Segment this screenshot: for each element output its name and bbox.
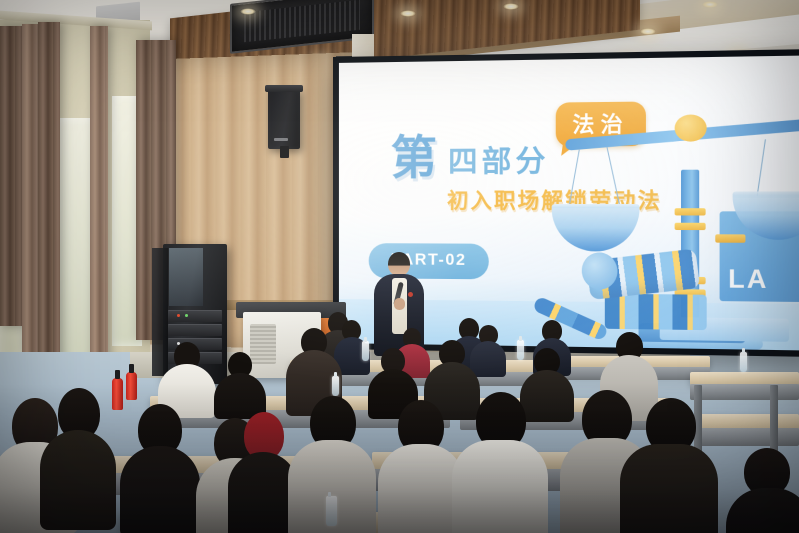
downlight xyxy=(240,8,256,15)
rack-led xyxy=(185,314,188,317)
curtain xyxy=(0,26,22,326)
scale-string xyxy=(606,147,621,210)
rack-glass-door xyxy=(169,248,203,306)
scale-pan-left xyxy=(552,208,640,252)
scale-string xyxy=(756,139,766,197)
lecture-hall-photo: 第 四部分 初入职场解锁劳动法 法治 PART-02 LA xyxy=(0,0,799,533)
slide-title: 第 四部分 xyxy=(391,135,550,180)
audience-member xyxy=(214,352,266,414)
downlight xyxy=(400,10,416,17)
audience-member xyxy=(452,392,548,533)
slide-title-prefix: 第 xyxy=(391,136,438,180)
curtain xyxy=(90,26,108,378)
speaker-bracket xyxy=(280,146,289,158)
presenter-lapel-pin xyxy=(408,292,413,297)
curtain xyxy=(22,24,38,354)
room-interior: 第 四部分 初入职场解锁劳动法 法治 PART-02 LA xyxy=(0,0,799,533)
law-book-clasp xyxy=(715,234,745,242)
speaker-badge xyxy=(274,138,288,141)
presenter-hand xyxy=(394,298,405,310)
fire-extinguisher-icon xyxy=(126,372,137,400)
water-bottle xyxy=(326,496,337,526)
audience-member xyxy=(726,448,799,533)
water-bottle xyxy=(332,376,339,396)
scale-string xyxy=(568,149,580,210)
rack-led xyxy=(177,314,180,317)
audience-member xyxy=(120,404,200,533)
person-body xyxy=(40,430,116,530)
person-body xyxy=(120,446,200,533)
person-body xyxy=(726,488,799,533)
person-body xyxy=(452,440,548,533)
slide-artwork-scales-icon: LA xyxy=(551,103,799,351)
downlight xyxy=(503,3,519,10)
presenter-head xyxy=(388,252,410,276)
ac-grille xyxy=(244,0,360,42)
scale-ring xyxy=(675,223,706,230)
audience-member xyxy=(620,398,718,533)
law-book-label: LA xyxy=(728,265,768,296)
person-body xyxy=(620,444,718,533)
slide-title-main: 四部分 xyxy=(448,146,549,180)
gavel-sound-block xyxy=(605,294,707,330)
water-bottle xyxy=(740,352,747,372)
scale-ring xyxy=(675,208,706,215)
wall-speaker-icon xyxy=(268,89,300,149)
speaker-mount xyxy=(265,85,303,92)
scale-knob xyxy=(675,114,707,141)
downlight xyxy=(702,1,718,8)
rack-unit xyxy=(168,324,222,336)
audience-member xyxy=(40,388,116,528)
downlight xyxy=(640,28,656,35)
